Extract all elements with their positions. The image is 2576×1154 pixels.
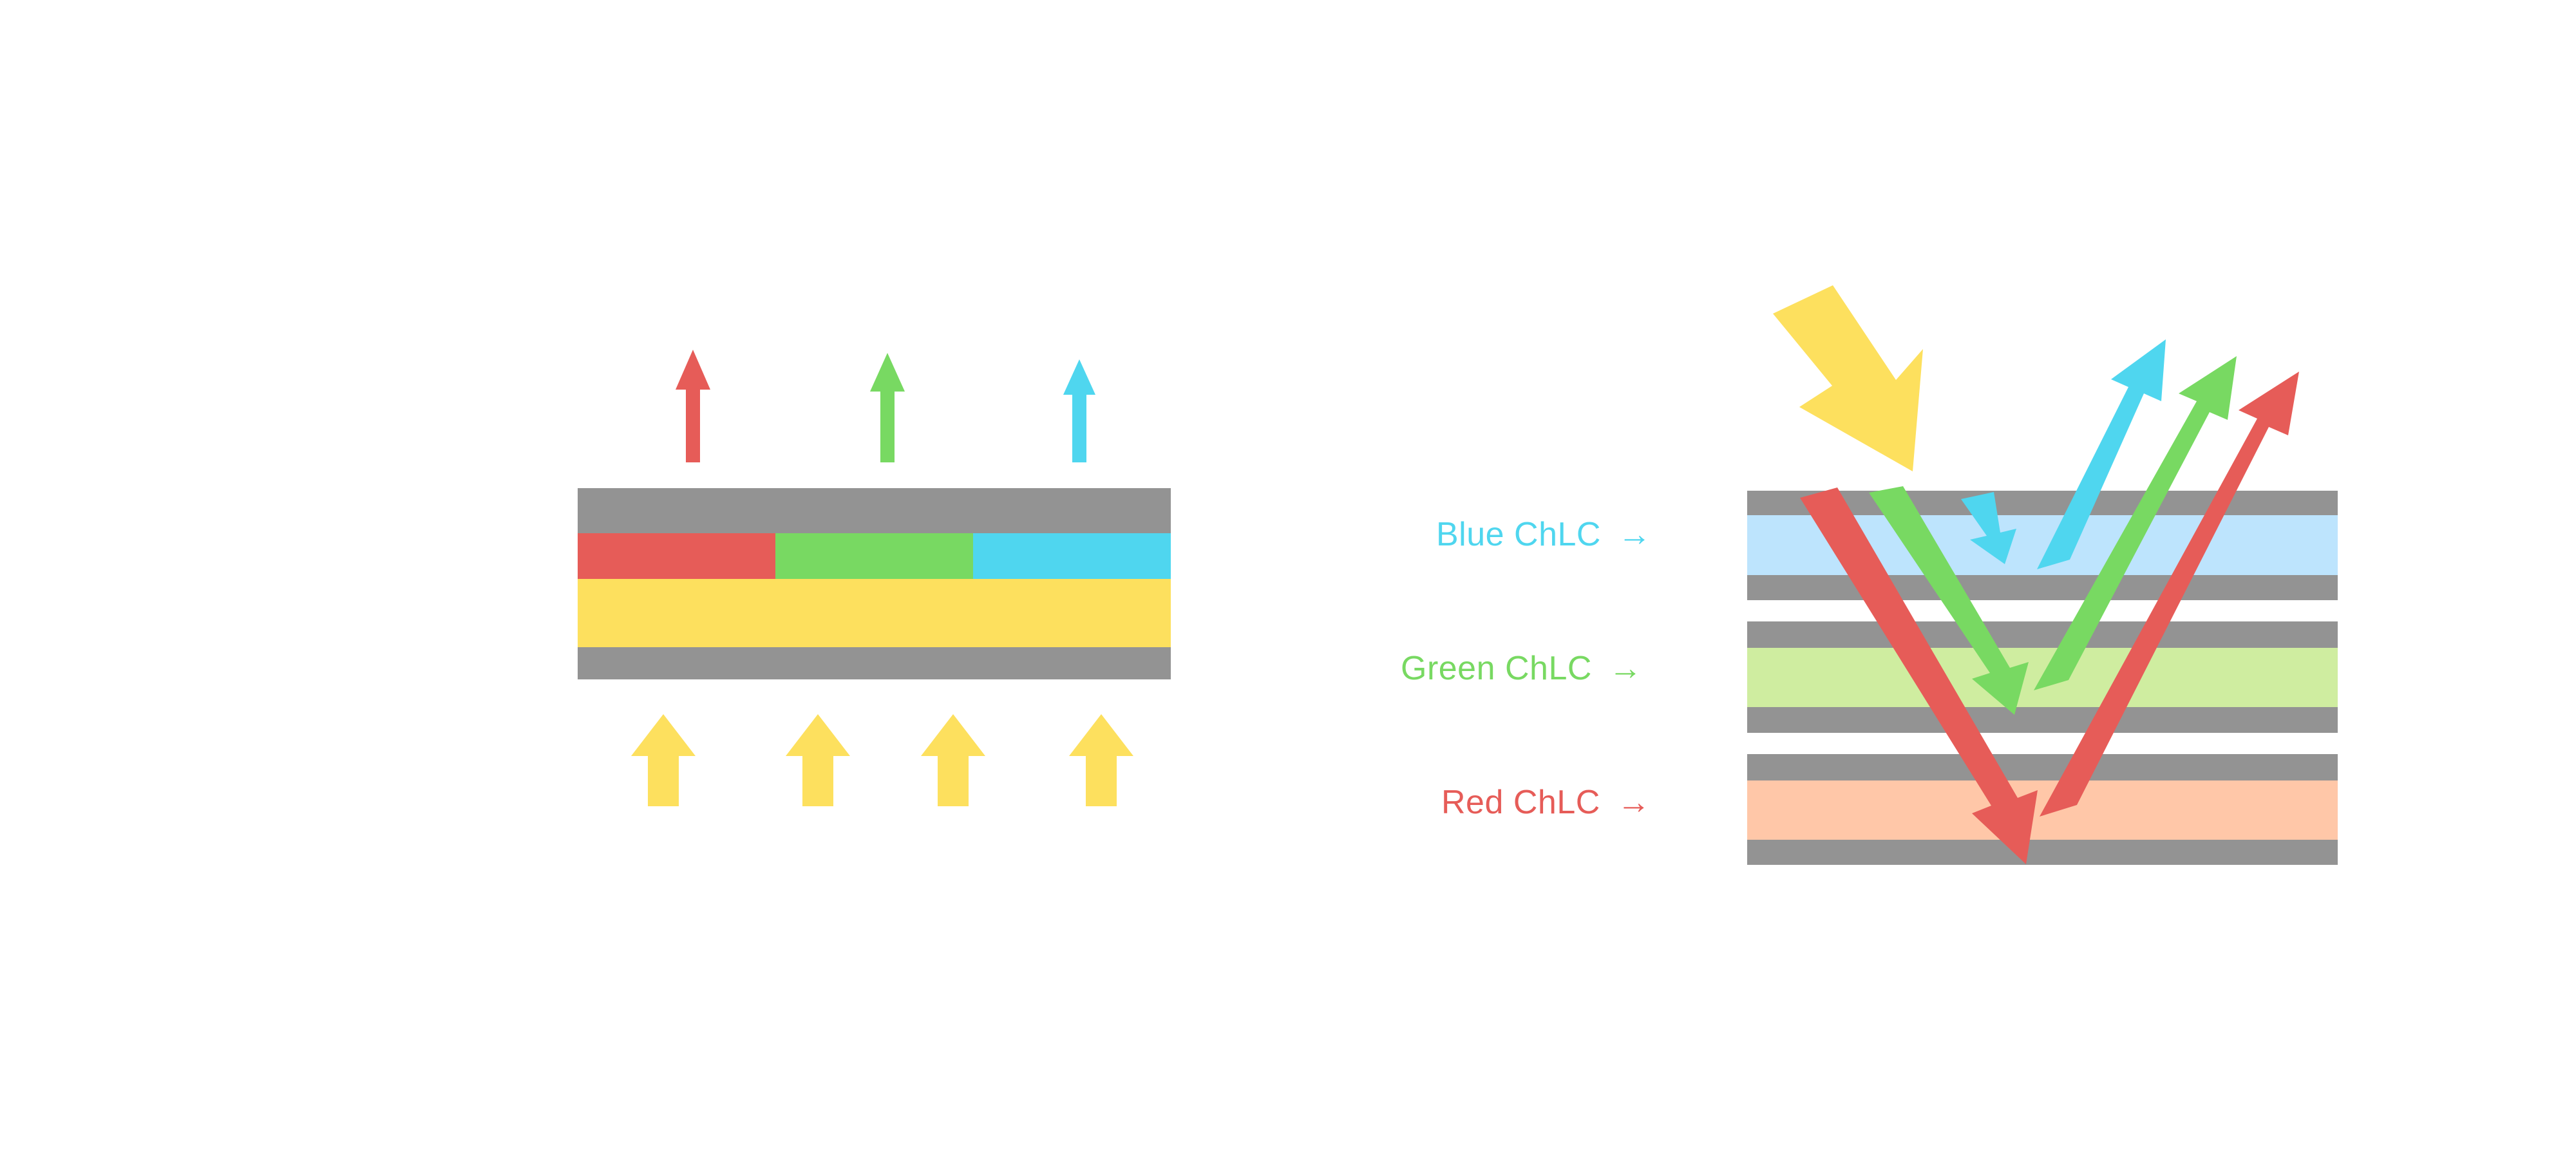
blue-chlc-label-text: Blue ChLC <box>1436 516 1601 553</box>
left-bottom-electrode <box>578 647 1171 679</box>
red-cell-top-electrode <box>1747 754 2338 780</box>
red-chlc-label: Red ChLC→ <box>1441 783 1651 822</box>
left-panel-group <box>578 350 1171 806</box>
backlight-arrow-4 <box>1069 714 1133 806</box>
diagram-svg <box>0 0 2576 1154</box>
backlight-arrow-1 <box>631 714 696 806</box>
green-chlc-label: Green ChLC→ <box>1401 649 1642 688</box>
blue-chlc-leader-arrow-icon: → <box>1601 516 1652 553</box>
green-emission-arrow <box>870 353 905 462</box>
red-filter <box>578 533 775 579</box>
green-cell-top-electrode <box>1747 621 2338 648</box>
green-cell-bottom-electrode <box>1747 707 2338 733</box>
left-top-electrode <box>578 488 1171 533</box>
red-chlc-leader-arrow-icon: → <box>1600 784 1651 821</box>
blue-cell-bottom-electrode <box>1747 575 2338 600</box>
yellow-backlight-layer <box>578 579 1171 647</box>
diagram-canvas: Blue ChLC→ Green ChLC→ Red ChLC→ <box>0 0 2576 1154</box>
red-cell-bottom-electrode <box>1747 840 2338 865</box>
backlight-arrow-3 <box>921 714 985 806</box>
green-filter <box>775 533 973 579</box>
white-light-incident-arrow <box>1773 285 1923 471</box>
backlight-arrow-2 <box>786 714 850 806</box>
blue-chlc-label: Blue ChLC→ <box>1436 515 1651 554</box>
green-chlc-leader-arrow-icon: → <box>1592 650 1643 687</box>
red-emission-arrow <box>676 350 710 462</box>
red-chlc-layer <box>1747 780 2338 840</box>
red-chlc-label-text: Red ChLC <box>1441 784 1600 821</box>
backlight-arrow-group <box>631 714 1133 806</box>
green-chlc-label-text: Green ChLC <box>1401 650 1592 687</box>
cyan-filter <box>973 533 1171 579</box>
cyan-emission-arrow <box>1063 359 1095 462</box>
